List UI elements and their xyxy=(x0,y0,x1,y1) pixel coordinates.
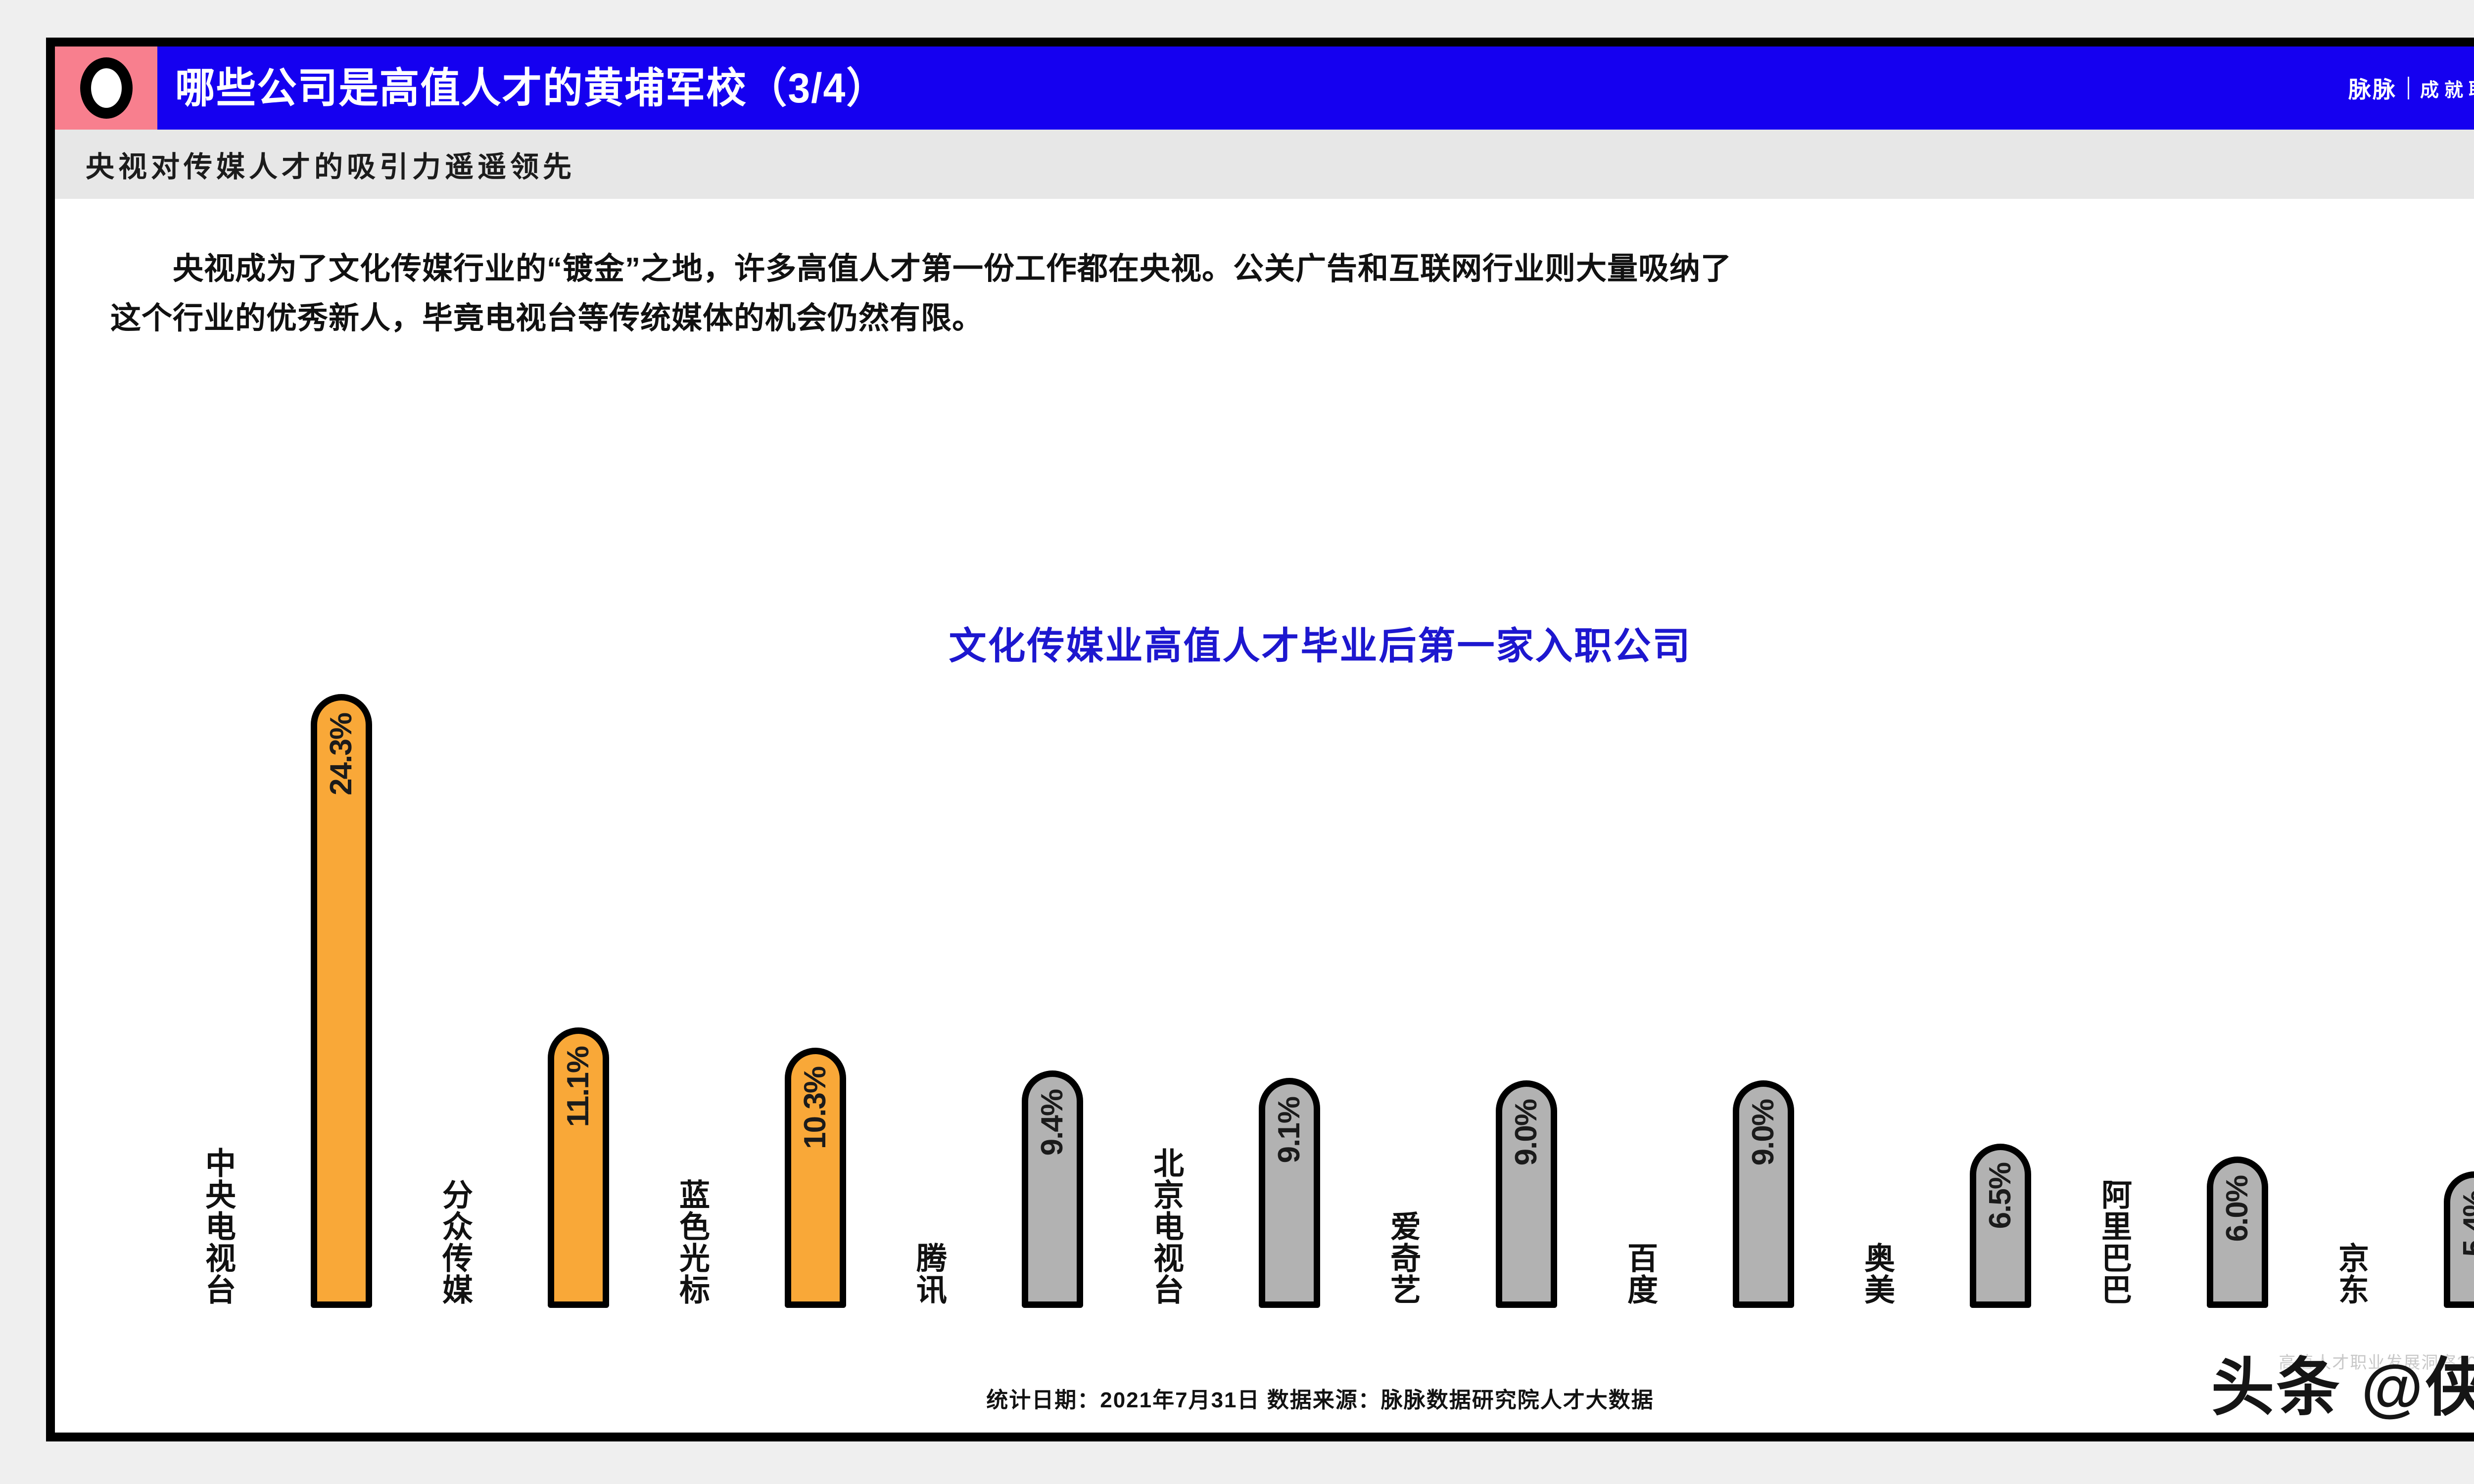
bar-value-label: 6.0% xyxy=(2222,1176,2253,1242)
bar-group: 阿里巴巴6.0% xyxy=(2040,685,2277,1308)
bar-category-label: 北京电视台 xyxy=(1092,1147,1186,1308)
bar-value-label: 9.1% xyxy=(1274,1097,1305,1163)
body-copy: 央视成为了文化传媒行业的“镀金”之地，许多高值人才第一份工作都在央视。公关广告和… xyxy=(110,244,2474,344)
bar: 24.3% xyxy=(311,694,372,1308)
bar: 5.4% xyxy=(2444,1171,2474,1308)
bar-value-label: 9.4% xyxy=(1037,1090,1068,1156)
header-mark-block xyxy=(55,46,157,130)
bar-category-text: 腾讯 xyxy=(912,1242,944,1305)
bar: 9.1% xyxy=(1259,1078,1320,1308)
subtitle-text: 央视对传媒人才的吸引力遥遥领先 xyxy=(86,143,575,185)
bar-group: 腾讯9.4% xyxy=(855,685,1092,1308)
bar-value-label: 9.0% xyxy=(1748,1100,1779,1165)
bar: 9.0% xyxy=(1733,1080,1794,1308)
bar-value-label: 11.1% xyxy=(563,1047,594,1127)
bar-category-label: 分众传媒 xyxy=(381,1179,475,1308)
bar-group: 爱奇艺9.0% xyxy=(1329,685,1566,1308)
bar-category-text: 分众传媒 xyxy=(438,1179,470,1305)
bar-group: 中央电视台24.3% xyxy=(144,685,381,1308)
bar-chart: 中央电视台24.3%分众传媒11.1%蓝色光标10.3%腾讯9.4%北京电视台9… xyxy=(144,685,2474,1308)
brand-name: 脉脉 xyxy=(2348,72,2397,104)
brand-divider xyxy=(2408,77,2409,99)
bar-group: 百度9.0% xyxy=(1566,685,1803,1308)
bar: 11.1% xyxy=(548,1027,609,1308)
brand-lockup: 脉脉 成就职业梦想 xyxy=(2348,72,2474,104)
bar-category-text: 百度 xyxy=(1623,1242,1655,1305)
bar-value-label: 5.4% xyxy=(2459,1191,2474,1256)
circle-outline-icon xyxy=(80,57,133,119)
bar-category-label: 京东 xyxy=(2277,1242,2371,1308)
bar-category-text: 奥美 xyxy=(1860,1242,1892,1305)
bar-category-text: 京东 xyxy=(2334,1242,2366,1305)
bar-value-label: 9.0% xyxy=(1511,1100,1542,1165)
bar-value-label: 10.3% xyxy=(800,1067,831,1149)
header-banner: 哪些公司是高值人才的黄埔军校（3/4） 脉脉 成就职业梦想 xyxy=(157,46,2474,130)
slide-header: 哪些公司是高值人才的黄埔军校（3/4） 脉脉 成就职业梦想 xyxy=(55,46,2474,130)
bar-category-label: 爱奇艺 xyxy=(1329,1210,1423,1308)
bar: 6.5% xyxy=(1970,1144,2031,1308)
bar-group: 奥美6.5% xyxy=(1803,685,2040,1308)
bar-value-label: 6.5% xyxy=(1985,1163,2016,1229)
bar: 10.3% xyxy=(785,1048,846,1308)
bar-category-label: 腾讯 xyxy=(855,1242,949,1308)
bar-group: 蓝色光标10.3% xyxy=(618,685,855,1308)
body-paragraph-line-1: 央视成为了文化传媒行业的“镀金”之地，许多高值人才第一份工作都在央视。公关广告和… xyxy=(110,244,2474,294)
bar-category-label: 中央电视台 xyxy=(144,1147,238,1308)
bar: 6.0% xyxy=(2207,1157,2268,1308)
page-title: 哪些公司是高值人才的黄埔军校（3/4） xyxy=(175,67,887,109)
body-line-1-text: 央视成为了文化传媒行业的“镀金”之地，许多高值人才第一份工作都在央视。公关广告和… xyxy=(173,252,1732,286)
body-paragraph-line-2: 这个行业的优秀新人，毕竟电视台等传统媒体的机会仍然有限。 xyxy=(110,294,2474,343)
bar-category-text: 北京电视台 xyxy=(1149,1147,1181,1305)
bar-category-text: 阿里巴巴 xyxy=(2097,1179,2129,1305)
bar-group: 北京电视台9.1% xyxy=(1092,685,1329,1308)
bar-category-label: 奥美 xyxy=(1803,1242,1897,1308)
subtitle-strip: 央视对传媒人才的吸引力遥遥领先 xyxy=(55,130,2474,199)
bar-group: 分众传媒11.1% xyxy=(381,685,618,1308)
bar-category-text: 中央电视台 xyxy=(201,1147,233,1305)
bar: 9.0% xyxy=(1496,1080,1557,1308)
body-line-2-text: 这个行业的优秀新人，毕竟电视台等传统媒体的机会仍然有限。 xyxy=(110,301,983,335)
slide-canvas: 哪些公司是高值人才的黄埔军校（3/4） 脉脉 成就职业梦想 央视对传媒人才的吸引… xyxy=(46,38,2474,1441)
bar: 9.4% xyxy=(1022,1070,1083,1308)
bar-group: 京东5.4% xyxy=(2277,685,2474,1308)
bar-category-text: 蓝色光标 xyxy=(675,1179,707,1305)
bar-category-text: 爱奇艺 xyxy=(1386,1210,1418,1305)
bar-value-label: 24.3% xyxy=(326,713,357,795)
watermark: 头条 @侠说 xyxy=(2211,1336,2474,1428)
chart-title: 文化传媒业高值人才毕业后第一家入职公司 xyxy=(55,615,2474,670)
bar-category-label: 蓝色光标 xyxy=(618,1179,712,1308)
brand-slogan: 成就职业梦想 xyxy=(2420,75,2474,102)
bar-category-label: 百度 xyxy=(1566,1242,1660,1308)
bar-category-label: 阿里巴巴 xyxy=(2040,1179,2134,1308)
footer-note: 统计日期：2021年7月31日 数据来源：脉脉数据研究院人才大数据 xyxy=(55,1382,2474,1414)
